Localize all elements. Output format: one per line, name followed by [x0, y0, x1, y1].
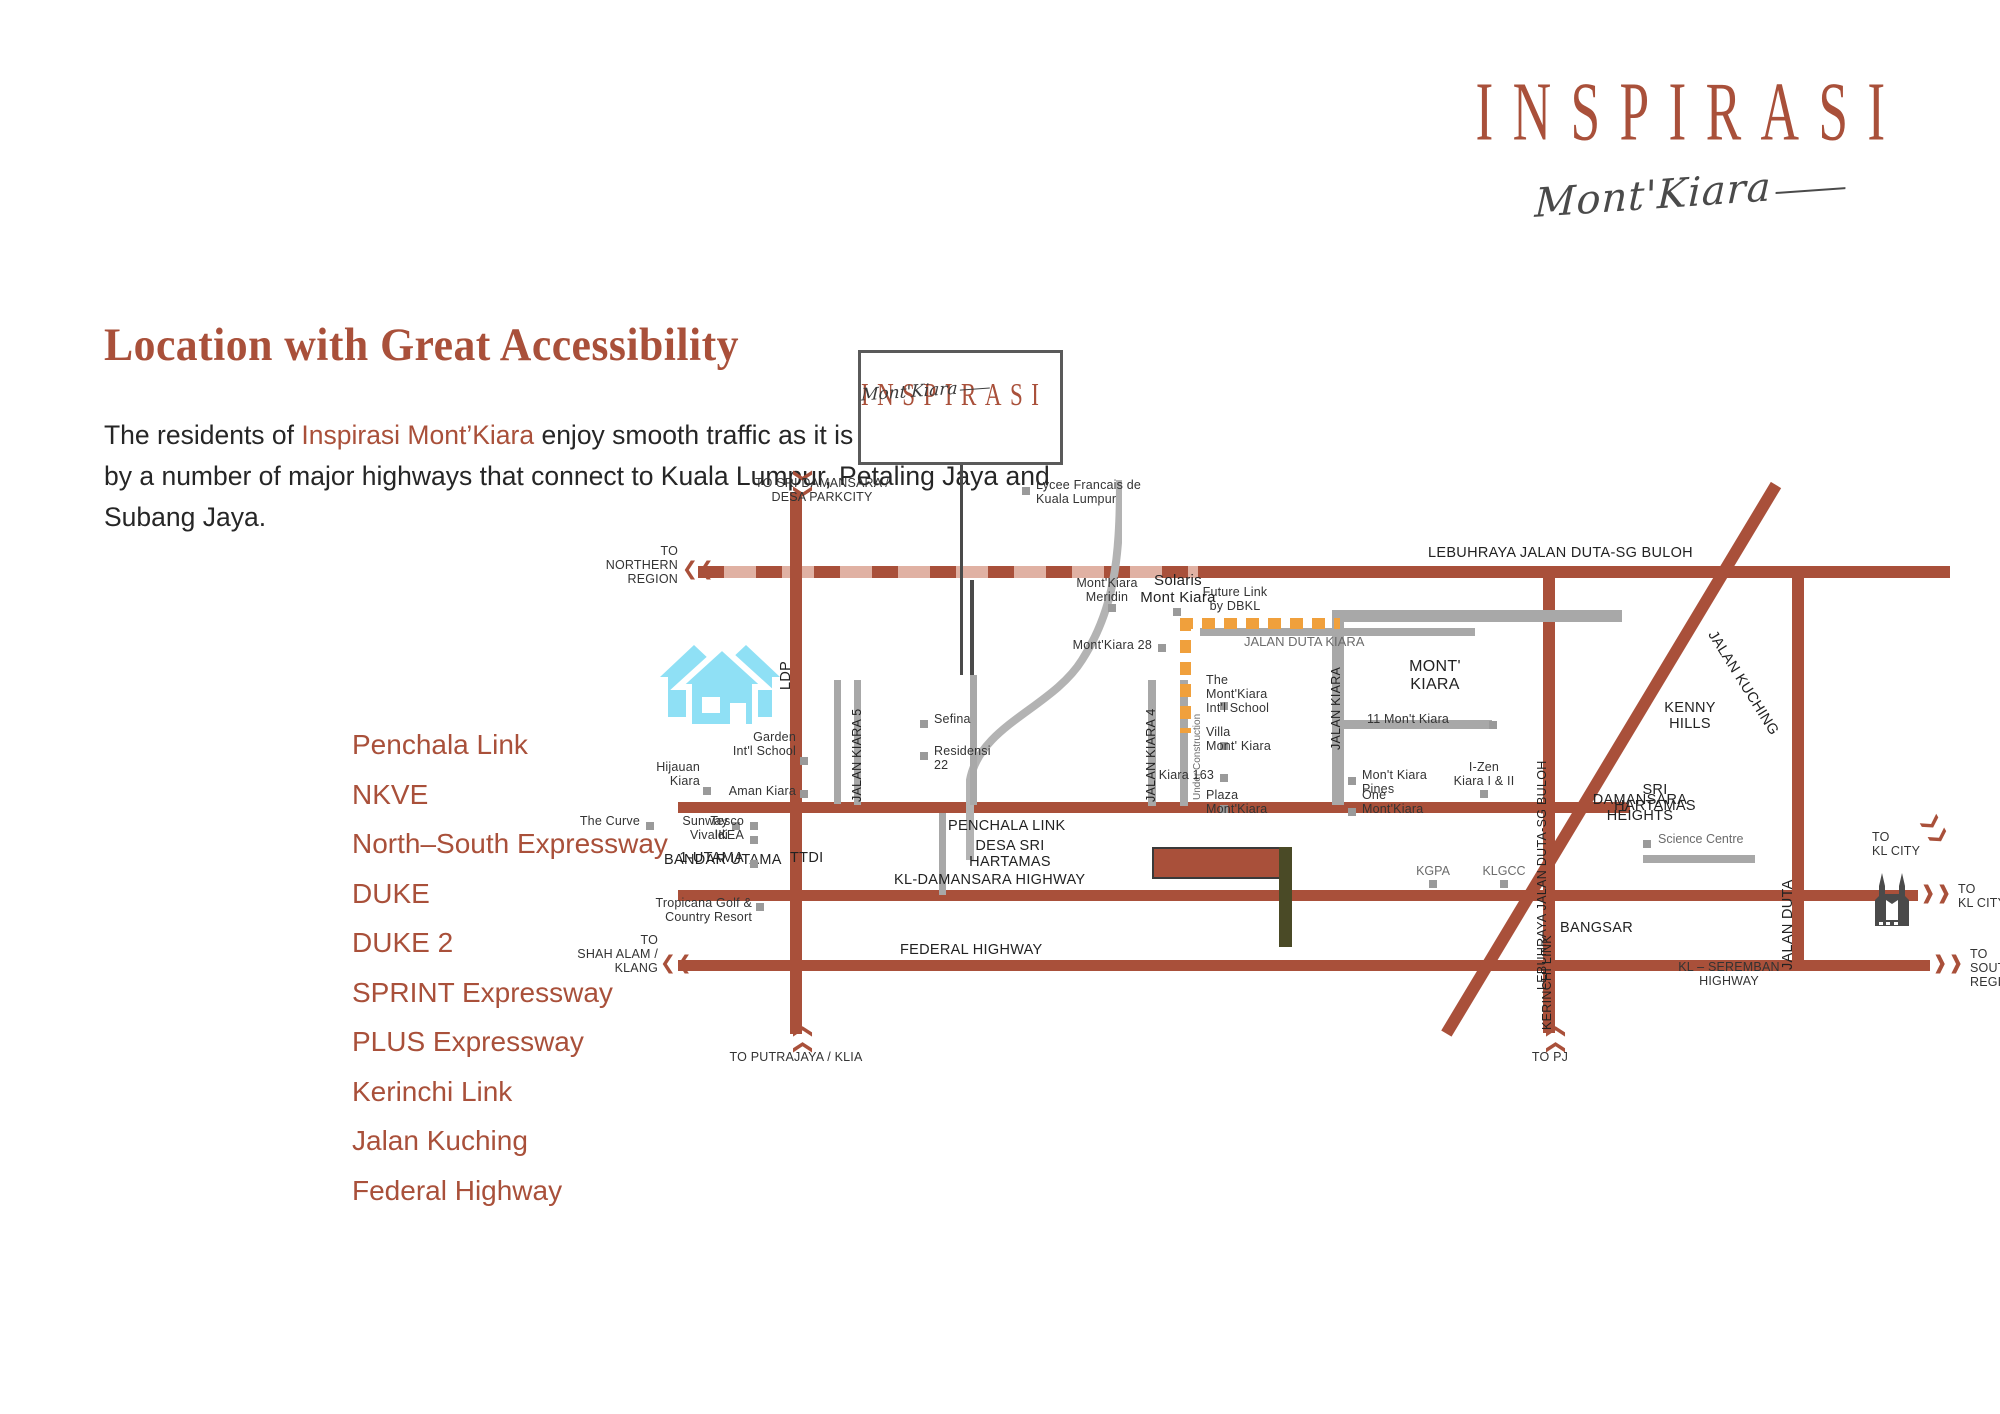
place-11-mont-kiara: 11 Mon't Kiara	[1367, 712, 1449, 726]
area-label-bangsar: BANGSAR	[1560, 920, 1633, 936]
petronas-towers-icon	[1866, 870, 1918, 928]
place-residensi-22: Residensi 22	[934, 744, 991, 772]
place-science-centre: Science Centre	[1658, 832, 1743, 846]
place-1-utama: 1-UTAMA	[630, 850, 744, 866]
place-dot	[1489, 721, 1497, 729]
place-the-curve: The Curve	[520, 814, 640, 828]
area-label-ttdi: TTDI	[790, 850, 823, 866]
place-sefina: Sefina	[934, 712, 971, 726]
arrow-to-shah-alam-klang: ❮❮	[660, 954, 692, 973]
place-dot	[1348, 777, 1356, 785]
place-dot	[920, 752, 928, 760]
road-curved-grey	[922, 480, 1122, 860]
place-aman-kiara: Aman Kiara	[690, 784, 796, 798]
place-villa-mont-kiara: Villa Mont' Kiara	[1206, 725, 1271, 753]
road-kl-damansara-highway	[678, 890, 1918, 901]
arrow-to-kl-city-lower: ❱❱	[1920, 884, 1952, 903]
place-dot	[1480, 790, 1488, 798]
place-ikea: IKEA	[660, 828, 744, 842]
direction-to-southern-region: TO SOUTHERN REGION	[1970, 947, 2000, 989]
intro-highlight: Inspirasi Mont’Kiara	[301, 420, 534, 450]
map-sign-underline	[959, 387, 989, 391]
road-jalan-kiara-5	[834, 680, 841, 804]
place-dot	[1429, 880, 1437, 888]
place-dot	[750, 860, 758, 868]
road-label-kl-damansara-highway: KL-DAMANSARA HIGHWAY	[894, 872, 1085, 888]
place-dot	[800, 790, 808, 798]
road-label-jalan-duta-kiara: JALAN DUTA KIARA	[1244, 635, 1364, 649]
road-label-jalan-kiara: JALAN KIARA	[1328, 667, 1344, 750]
place-plaza-mont-kiara: Plaza Mont'Kiara	[1206, 788, 1267, 816]
road-label-federal-highway: FEDERAL HIGHWAY	[900, 942, 1043, 958]
road-label-under-construction: Under Construction	[1191, 714, 1205, 800]
place-tesco: Tesco	[660, 814, 744, 828]
map-project-sign: INSPIRASI Mont'Kiara	[858, 350, 1063, 465]
road-jalan-duta-kiara-top	[1332, 610, 1622, 622]
road-duta-sgbuloh	[1198, 566, 1950, 578]
area-label-damansara-heights: DAMANSARA HEIGHTS	[1570, 792, 1710, 824]
brand-wordmark: INSPIRASI	[1474, 70, 1906, 154]
place-dot	[1220, 774, 1228, 782]
arrow-to-northern-region: ❮❮	[682, 560, 714, 579]
area-label-desa-sri-hartamas: DESA SRI HARTAMAS	[940, 838, 1080, 870]
road-label-jalan-duta: JALAN DUTA	[1780, 879, 1796, 970]
site-marker-block	[1152, 847, 1282, 879]
future-link-dashed-vertical	[1180, 618, 1191, 733]
future-link-dashed-horizontal	[1180, 618, 1340, 629]
place-dot	[750, 836, 758, 844]
place-dot	[1500, 880, 1508, 888]
page-title: Location with Great Accessibility	[104, 318, 739, 372]
direction-to-putrajaya-klia: TO PUTRAJAYA / KLIA	[716, 1050, 876, 1064]
arrow-to-southern-region: ❱❱	[1932, 954, 1964, 973]
area-label-kenny-hills: KENNY HILLS	[1640, 700, 1740, 732]
road-label-jalan-kiara-5: JALAN KIARA 5	[849, 708, 865, 802]
place-dot	[750, 822, 758, 830]
brand-script-underline	[1775, 187, 1845, 194]
place-dot	[1158, 644, 1166, 652]
place-klgcc: KLGCC	[1468, 864, 1540, 878]
site-marker-strip	[1279, 847, 1292, 947]
road-label-kl-seremban-highway: KL – SEREMBAN HIGHWAY	[1664, 960, 1794, 988]
direction-to-pj: TO PJ	[1500, 1050, 1600, 1064]
place-dot	[1173, 608, 1181, 616]
road-label-jalan-kiara-4: JALAN KIARA 4	[1143, 708, 1159, 802]
place-dot	[920, 720, 928, 728]
direction-to-kl-city-lower: TO KL CITY	[1958, 882, 2000, 910]
brand-script-text: Mont'Kiara	[1534, 164, 1772, 227]
place-kgpa: KGPA	[1400, 864, 1466, 878]
place-mont-kiara-28: Mont'Kiara 28	[1028, 638, 1152, 652]
place-dot	[1108, 604, 1116, 612]
direction-to-northern-region: TO NORTHERN REGION	[560, 544, 678, 586]
road-science-centre-spur	[1643, 855, 1755, 863]
place-i-zen-kiara: I-Zen Kiara I & II	[1434, 760, 1534, 788]
brand-header: INSPIRASI Mont'Kiara	[1455, 70, 1925, 230]
road-label-penchala-link: PENCHALA LINK	[948, 818, 1066, 834]
place-garden-intl-school: Garden Int'l School	[690, 730, 796, 758]
place-lycee-francais: Lycee Francais de Kuala Lumpur	[1036, 478, 1141, 506]
place-dot	[800, 757, 808, 765]
place-mont-kiara-intl-school: The Mont'Kiara Int'l School	[1206, 673, 1269, 715]
place-kiara-163: Kiara 163	[1114, 768, 1214, 782]
road-label-ldp: LDP	[778, 661, 794, 690]
place-dot	[646, 822, 654, 830]
road-label-lebuhraya-duta-sgbuloh: LEBUHRAYA JALAN DUTA-SG BULOH	[1428, 545, 1693, 561]
direction-to-sri-damansara: TO SRI DAMANSARA / DESA PARKCITY	[722, 476, 922, 504]
direction-to-kl-city-upper: TO KL CITY	[1872, 830, 1982, 858]
location-map: INSPIRASI Mont'Kiara ❮❮ ❱❱ ❱❱ ❮❮ ❮❮ ❯❯ ❯…	[640, 430, 1970, 1340]
place-hijauan-kiara: Hijauan Kiara	[600, 760, 700, 788]
place-dot	[1348, 808, 1356, 816]
place-one-mont-kiara: One Mont'Kiara	[1362, 788, 1423, 816]
place-dot	[1022, 487, 1030, 495]
area-label-mont-kiara: MONT' KIARA	[1385, 658, 1485, 694]
sign-pole	[960, 465, 963, 675]
intro-before: The residents of	[104, 420, 301, 450]
place-dot	[1643, 840, 1651, 848]
road-label-kerinchi-link: KERINCHI LINK	[1539, 935, 1555, 1030]
direction-to-shah-alam-klang: TO SHAH ALAM / KLANG	[540, 933, 658, 975]
road-garden-school-line	[970, 675, 977, 805]
place-solaris-mont-kiara: Solaris Mont Kiara	[1118, 572, 1238, 606]
place-dot	[756, 903, 764, 911]
brand-script-logo: Mont'Kiara	[1455, 153, 1925, 232]
place-tropicana-golf: Tropicana Golf & Country Resort	[630, 896, 752, 924]
